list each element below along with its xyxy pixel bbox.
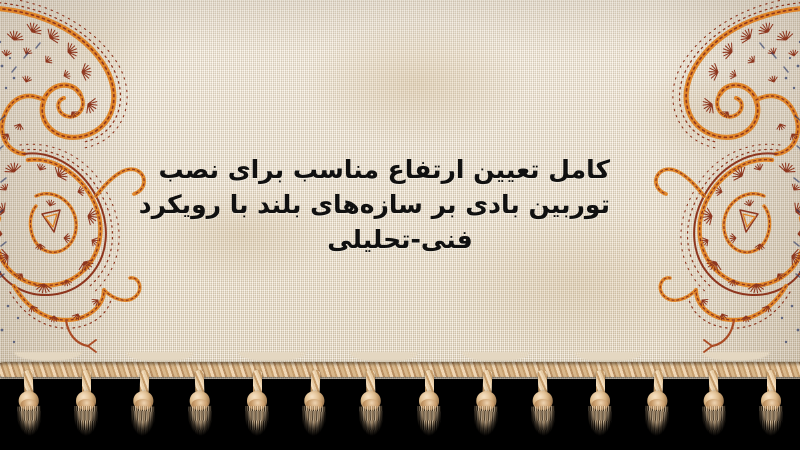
tassel-skirt bbox=[473, 406, 498, 447]
tassel bbox=[357, 370, 386, 450]
tassel bbox=[244, 370, 270, 450]
tassel bbox=[587, 370, 613, 450]
tassel-skirt bbox=[301, 406, 326, 447]
tassel-skirt bbox=[588, 406, 612, 446]
title-line-3: فنی-تحلیلی bbox=[190, 222, 610, 257]
page-title: کامل تعیین ارتفاع مناسب برای نصب توربین … bbox=[190, 152, 610, 257]
tassel bbox=[15, 370, 44, 450]
tassel-skirt bbox=[74, 406, 98, 446]
tassel-skirt bbox=[417, 406, 441, 446]
title-line-1: کامل تعیین ارتفاع مناسب برای نصب bbox=[190, 152, 610, 187]
tassel-skirt bbox=[245, 406, 269, 446]
tassel-skirt bbox=[130, 406, 155, 447]
tassel-skirt bbox=[188, 406, 213, 447]
tassel-skirt bbox=[644, 406, 669, 447]
tassel bbox=[300, 370, 329, 450]
tassel-fringe bbox=[0, 370, 800, 450]
tassel bbox=[73, 370, 99, 450]
tassel-skirt bbox=[702, 406, 727, 447]
tassel bbox=[700, 370, 729, 450]
tassel-skirt bbox=[759, 406, 783, 446]
tassel bbox=[643, 370, 672, 450]
tassel-skirt bbox=[17, 406, 42, 447]
tassel-skirt bbox=[531, 406, 556, 447]
tassel bbox=[416, 370, 442, 450]
title-line-2: توربین بادی بر سازه‌های بلند با رویکرد bbox=[190, 187, 610, 222]
title-slide: کامل تعیین ارتفاع مناسب برای نصب توربین … bbox=[0, 0, 800, 450]
tassel bbox=[186, 370, 215, 450]
tassel bbox=[129, 370, 158, 450]
tassel-skirt bbox=[359, 406, 384, 447]
tassel bbox=[758, 370, 784, 450]
tassel bbox=[472, 370, 501, 450]
tassel bbox=[529, 370, 558, 450]
